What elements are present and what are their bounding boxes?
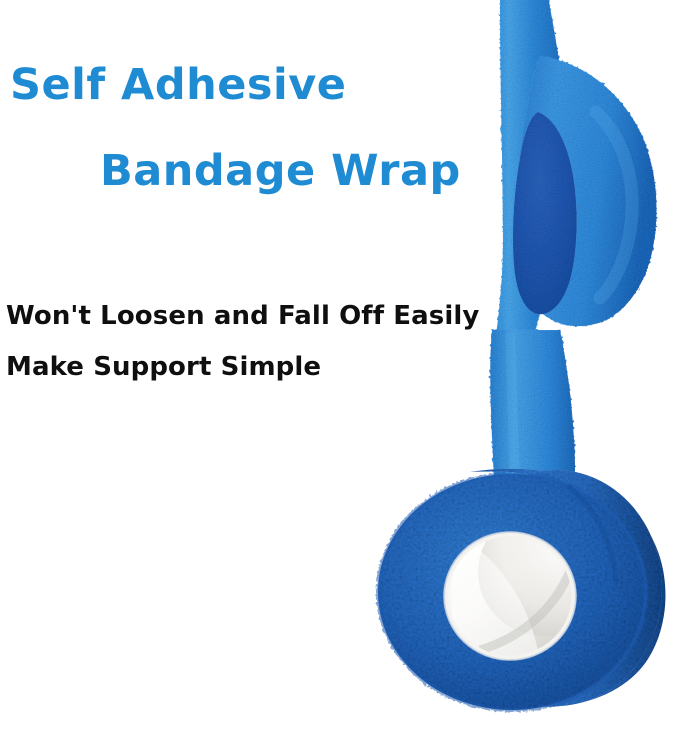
hanging-strip-lower	[490, 330, 575, 508]
roll-cylinder-mass	[450, 470, 662, 706]
feature-line-1: Won't Loosen and Fall Off Easily	[6, 303, 479, 329]
headline-line-1: Self Adhesive	[10, 64, 346, 107]
feature-line-2: Make Support Simple	[6, 354, 321, 380]
roll-front-face	[378, 474, 646, 710]
roll-cylinder-body	[470, 469, 666, 707]
bandage-roll	[378, 469, 666, 710]
hanging-strip	[492, 0, 568, 366]
loop-fold-shadow	[513, 112, 577, 314]
folded-loop	[513, 56, 657, 326]
product-image-canvas: Self Adhesive Bandage Wrap Won't Loosen …	[0, 0, 679, 730]
headline-line-2: Bandage Wrap	[100, 150, 461, 193]
roll-core	[444, 508, 610, 664]
